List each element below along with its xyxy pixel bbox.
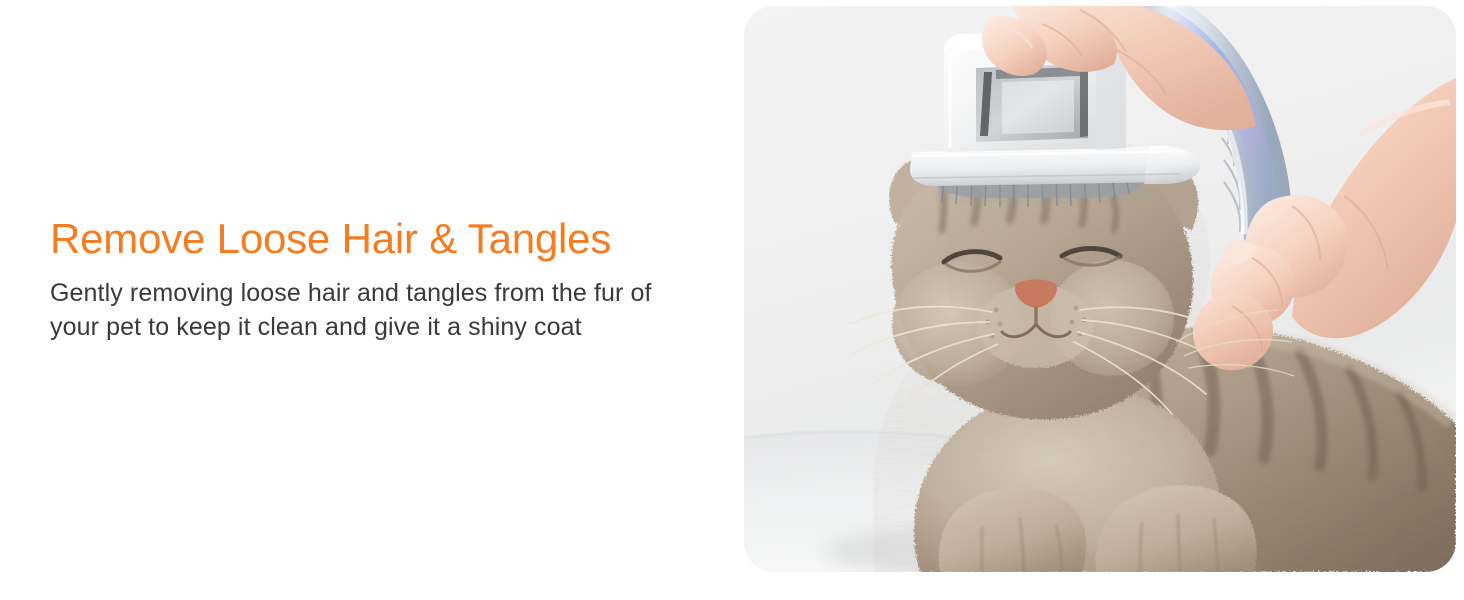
body-text: Gently removing loose hair and tangles f… bbox=[50, 264, 705, 344]
brush-slot-glare bbox=[1002, 80, 1074, 134]
brush-slot-edge bbox=[1080, 66, 1088, 137]
product-photo: Clean bbox=[744, 6, 1456, 572]
copy-block: Remove Loose Hair & Tangles Gently remov… bbox=[50, 214, 710, 344]
headline: Remove Loose Hair & Tangles bbox=[50, 214, 710, 264]
cat-grooming-illustration: Clean bbox=[744, 6, 1456, 572]
brush-shadow bbox=[934, 184, 1154, 204]
promo-banner: Remove Loose Hair & Tangles Gently remov… bbox=[0, 0, 1464, 600]
